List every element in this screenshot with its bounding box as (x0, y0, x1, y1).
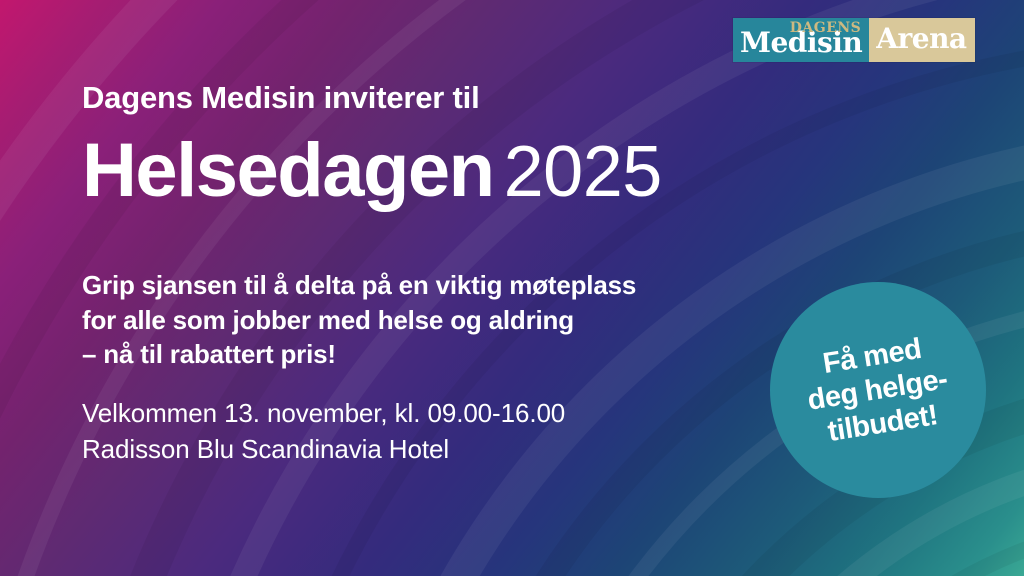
event-venue: Radisson Blu Scandinavia Hotel (82, 432, 565, 468)
title-strong: Helsedagen (82, 128, 494, 213)
event-details: Velkommen 13. november, kl. 09.00-16.00 … (82, 396, 565, 468)
title-year: 2025 (504, 132, 662, 212)
offer-badge-text: Få med deg helge- tilbudet! (800, 328, 955, 451)
lede-line-1: Grip sjansen til å delta på en viktig mø… (82, 268, 636, 303)
eyebrow-text: Dagens Medisin inviterer til (82, 80, 480, 116)
offer-badge[interactable]: Få med deg helge- tilbudet! (770, 282, 986, 498)
logo-left-panel: DAGENS Medisin (733, 18, 869, 62)
lede-paragraph: Grip sjansen til å delta på en viktig mø… (82, 268, 636, 372)
logo-word-arena: Arena (876, 25, 966, 55)
lede-line-2: for alle som jobber med helse og aldring (82, 303, 636, 338)
logo-right-panel: Arena (869, 18, 974, 62)
page-title: Helsedagen2025 (82, 133, 662, 209)
promo-banner: DAGENS Medisin Arena Dagens Medisin invi… (0, 0, 1024, 576)
dagens-medisin-arena-logo[interactable]: DAGENS Medisin Arena (733, 18, 975, 62)
logo-kicker-dagens: DAGENS (790, 21, 862, 35)
lede-line-3: – nå til rabattert pris! (82, 337, 636, 372)
event-date-time: Velkommen 13. november, kl. 09.00-16.00 (82, 396, 565, 432)
